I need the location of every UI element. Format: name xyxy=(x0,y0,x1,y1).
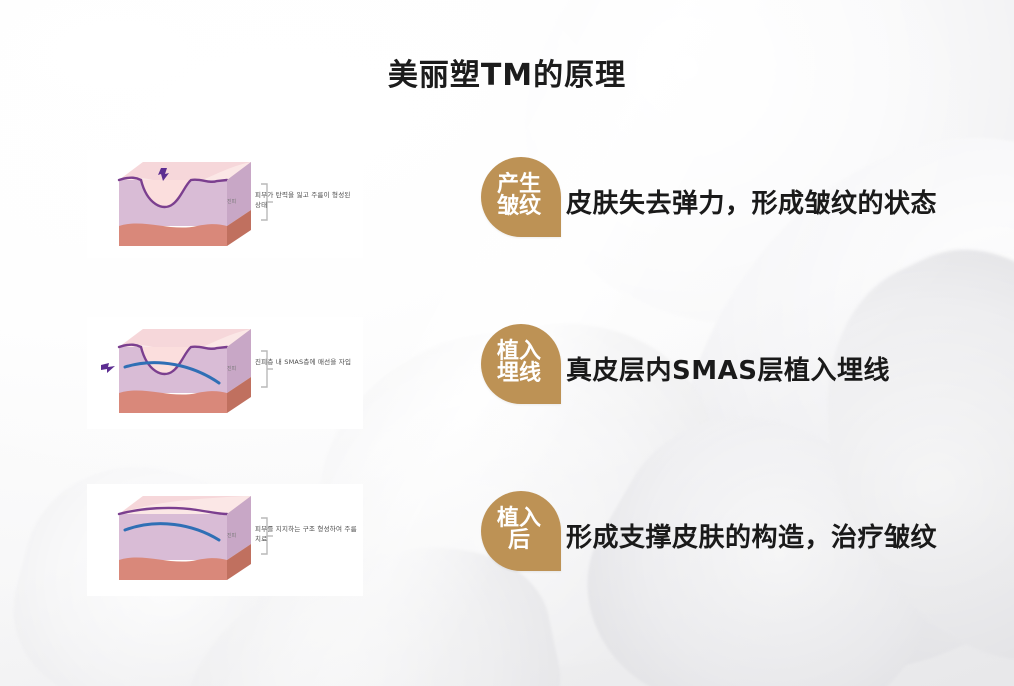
step-badge-3: 植入 后 xyxy=(481,491,561,571)
step-row-3: 진피 피부를 지지하는 구조 형성하여 주름 치료 植入 后 形成支撑皮肤的构造… xyxy=(0,479,1014,639)
illustration-card: 진피 피부를 지지하는 구조 형성하여 주름 치료 xyxy=(87,484,363,596)
step-badge-2: 植入 埋线 xyxy=(481,324,561,404)
badge-line-2: 皱纹 xyxy=(497,196,541,218)
step-badge-label: 产生 皱纹 xyxy=(497,174,541,219)
illustration-caption: 피부를 지지하는 구조 형성하여 주름 치료 xyxy=(255,524,359,544)
illustration-caption: 피부가 탄력을 잃고 주름이 형성된 상태 xyxy=(255,190,359,210)
dermis-label: 진피 xyxy=(227,532,236,539)
illustration-card: 진피 진피층 내 SMAS층에 매선을 자입 xyxy=(87,317,363,429)
step-description-3: 形成支撑皮肤的构造，治疗皱纹 xyxy=(566,517,937,554)
dermis-label: 진피 xyxy=(227,198,236,205)
step-badge-label: 植入 埋线 xyxy=(497,341,541,386)
illustration-card: 진피 피부가 탄력을 잃고 주름이 형성된 상태 xyxy=(87,150,363,258)
step-badge-label: 植入 后 xyxy=(497,508,541,553)
step-description-1: 皮肤失去弹力，形成皱纹的状态 xyxy=(566,183,937,220)
step-row-2: 진피 진피층 내 SMAS층에 매선을 자입 植入 埋线 真皮层内SMAS层植入… xyxy=(0,312,1014,472)
badge-line-2: 后 xyxy=(497,530,541,552)
badge-line-1: 植入 xyxy=(497,508,541,530)
skin-cross-section-thread-inserted-icon xyxy=(101,321,351,421)
page-title: 美丽塑TM的原理 xyxy=(0,50,1014,94)
slide-canvas: 美丽塑TM的原理 xyxy=(0,0,1014,686)
step-row-1: 진피 피부가 탄력을 잃고 주름이 형성된 상태 产生 皱纹 皮肤失去弹力，形成… xyxy=(0,145,1014,305)
badge-line-2: 埋线 xyxy=(497,363,541,385)
step-badge-1: 产生 皱纹 xyxy=(481,157,561,237)
dermis-label: 진피 xyxy=(227,365,236,372)
step-description-2: 真皮层内SMAS层植入埋线 xyxy=(566,350,890,387)
illustration-caption: 진피층 내 SMAS층에 매선을 자입 xyxy=(255,357,359,367)
